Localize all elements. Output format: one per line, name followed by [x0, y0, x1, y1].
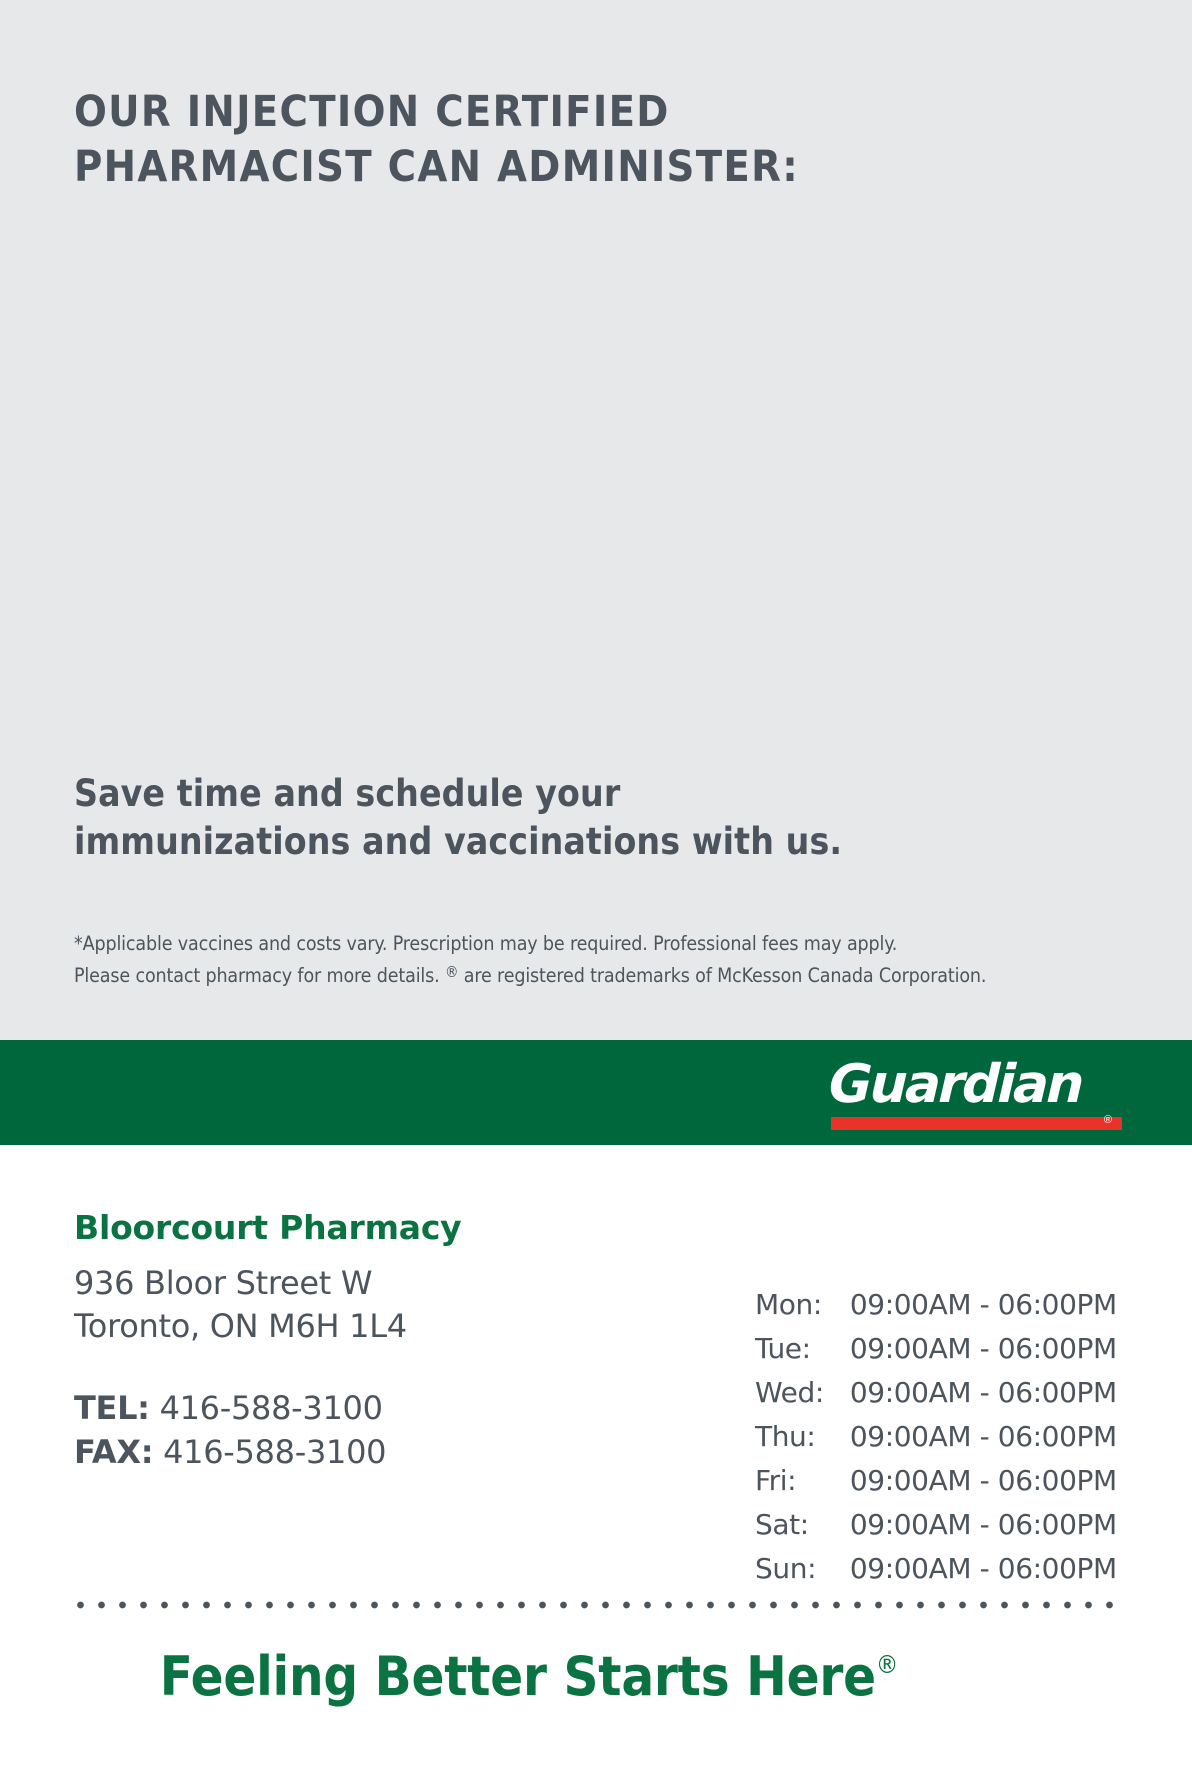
- promo-subheading-line-2: immunizations and vaccinations with us.: [74, 818, 944, 866]
- guardian-wordmark: Guardian: [828, 1054, 1125, 1116]
- hours-time-value: 09:00AM - 06:00PM: [850, 1552, 1117, 1596]
- table-row: Fri: 09:00AM - 06:00PM: [755, 1464, 1117, 1508]
- disclaimer-line-1: *Applicable vaccines and costs vary. Pre…: [74, 928, 1129, 960]
- hours-day-label: Wed:: [755, 1376, 850, 1420]
- hours-day-label: Thu:: [755, 1420, 850, 1464]
- table-row: Thu: 09:00AM - 06:00PM: [755, 1420, 1117, 1464]
- tagline-registered-icon: ®: [876, 1650, 898, 1679]
- store-hours-table: Mon: 09:00AM - 06:00PM Tue: 09:00AM - 06…: [755, 1288, 1117, 1596]
- table-row: Mon: 09:00AM - 06:00PM: [755, 1288, 1117, 1332]
- hours-time-value: 09:00AM - 06:00PM: [850, 1332, 1117, 1376]
- disclaimer-line-2: Please contact pharmacy for more details…: [74, 960, 1129, 992]
- promo-subheading-line-1: Save time and schedule your: [74, 770, 944, 818]
- hours-time-value: 09:00AM - 06:00PM: [850, 1376, 1117, 1420]
- store-name: Bloorcourt Pharmacy: [74, 1208, 462, 1247]
- disclaimer-text: *Applicable vaccines and costs vary. Pre…: [74, 928, 1129, 991]
- store-address: 936 Bloor Street W Toronto, ON M6H 1L4: [74, 1262, 407, 1348]
- registered-trademark-icon: ®: [445, 963, 458, 981]
- brand-bar: Guardian ®: [0, 1040, 1192, 1145]
- hours-time-value: 09:00AM - 06:00PM: [850, 1288, 1117, 1332]
- hours-day-label: Mon:: [755, 1288, 850, 1332]
- store-address-line-1: 936 Bloor Street W: [74, 1262, 407, 1305]
- telephone-label: TEL:: [74, 1389, 150, 1427]
- table-row: Tue: 09:00AM - 06:00PM: [755, 1332, 1117, 1376]
- guardian-logo: Guardian ®: [829, 1054, 1124, 1134]
- telephone-row: TEL: 416-588-3100: [74, 1386, 386, 1430]
- hours-time-value: 09:00AM - 06:00PM: [850, 1420, 1117, 1464]
- fax-value[interactable]: 416-588-3100: [163, 1433, 386, 1471]
- disclaimer-line-2-part-a: Please contact pharmacy for more details…: [74, 964, 445, 987]
- promo-panel: OUR INJECTION CERTIFIED PHARMACIST CAN A…: [0, 0, 1192, 1040]
- store-address-line-2: Toronto, ON M6H 1L4: [74, 1305, 407, 1348]
- guardian-registered-icon: ®: [1104, 1114, 1112, 1127]
- guardian-red-rule: ®: [831, 1117, 1122, 1130]
- promo-subheading: Save time and schedule your immunization…: [74, 770, 944, 866]
- hours-time-value: 09:00AM - 06:00PM: [850, 1508, 1117, 1552]
- disclaimer-line-2-part-b: are registered trademarks of McKesson Ca…: [458, 964, 986, 987]
- table-row: Sun: 09:00AM - 06:00PM: [755, 1552, 1117, 1596]
- store-contact: TEL: 416-588-3100 FAX: 416-588-3100: [74, 1386, 386, 1474]
- hours-day-label: Sun:: [755, 1552, 850, 1596]
- telephone-value[interactable]: 416-588-3100: [160, 1389, 383, 1427]
- promo-heading-line-1: OUR INJECTION CERTIFIED: [74, 85, 974, 140]
- hours-day-label: Fri:: [755, 1464, 850, 1508]
- table-row: Wed: 09:00AM - 06:00PM: [755, 1376, 1117, 1420]
- hours-day-label: Tue:: [755, 1332, 850, 1376]
- tagline: Feeling Better Starts Here®: [0, 1645, 1058, 1708]
- promo-heading: OUR INJECTION CERTIFIED PHARMACIST CAN A…: [74, 85, 974, 195]
- fax-label: FAX:: [74, 1433, 153, 1471]
- store-hours-body: Mon: 09:00AM - 06:00PM Tue: 09:00AM - 06…: [755, 1288, 1117, 1596]
- promo-heading-line-2: PHARMACIST CAN ADMINISTER:: [74, 140, 974, 195]
- hours-time-value: 09:00AM - 06:00PM: [850, 1464, 1117, 1508]
- fax-row: FAX: 416-588-3100: [74, 1430, 386, 1474]
- dotted-divider: [70, 1600, 1120, 1610]
- hours-day-label: Sat:: [755, 1508, 850, 1552]
- table-row: Sat: 09:00AM - 06:00PM: [755, 1508, 1117, 1552]
- tagline-text: Feeling Better Starts Here: [160, 1645, 876, 1708]
